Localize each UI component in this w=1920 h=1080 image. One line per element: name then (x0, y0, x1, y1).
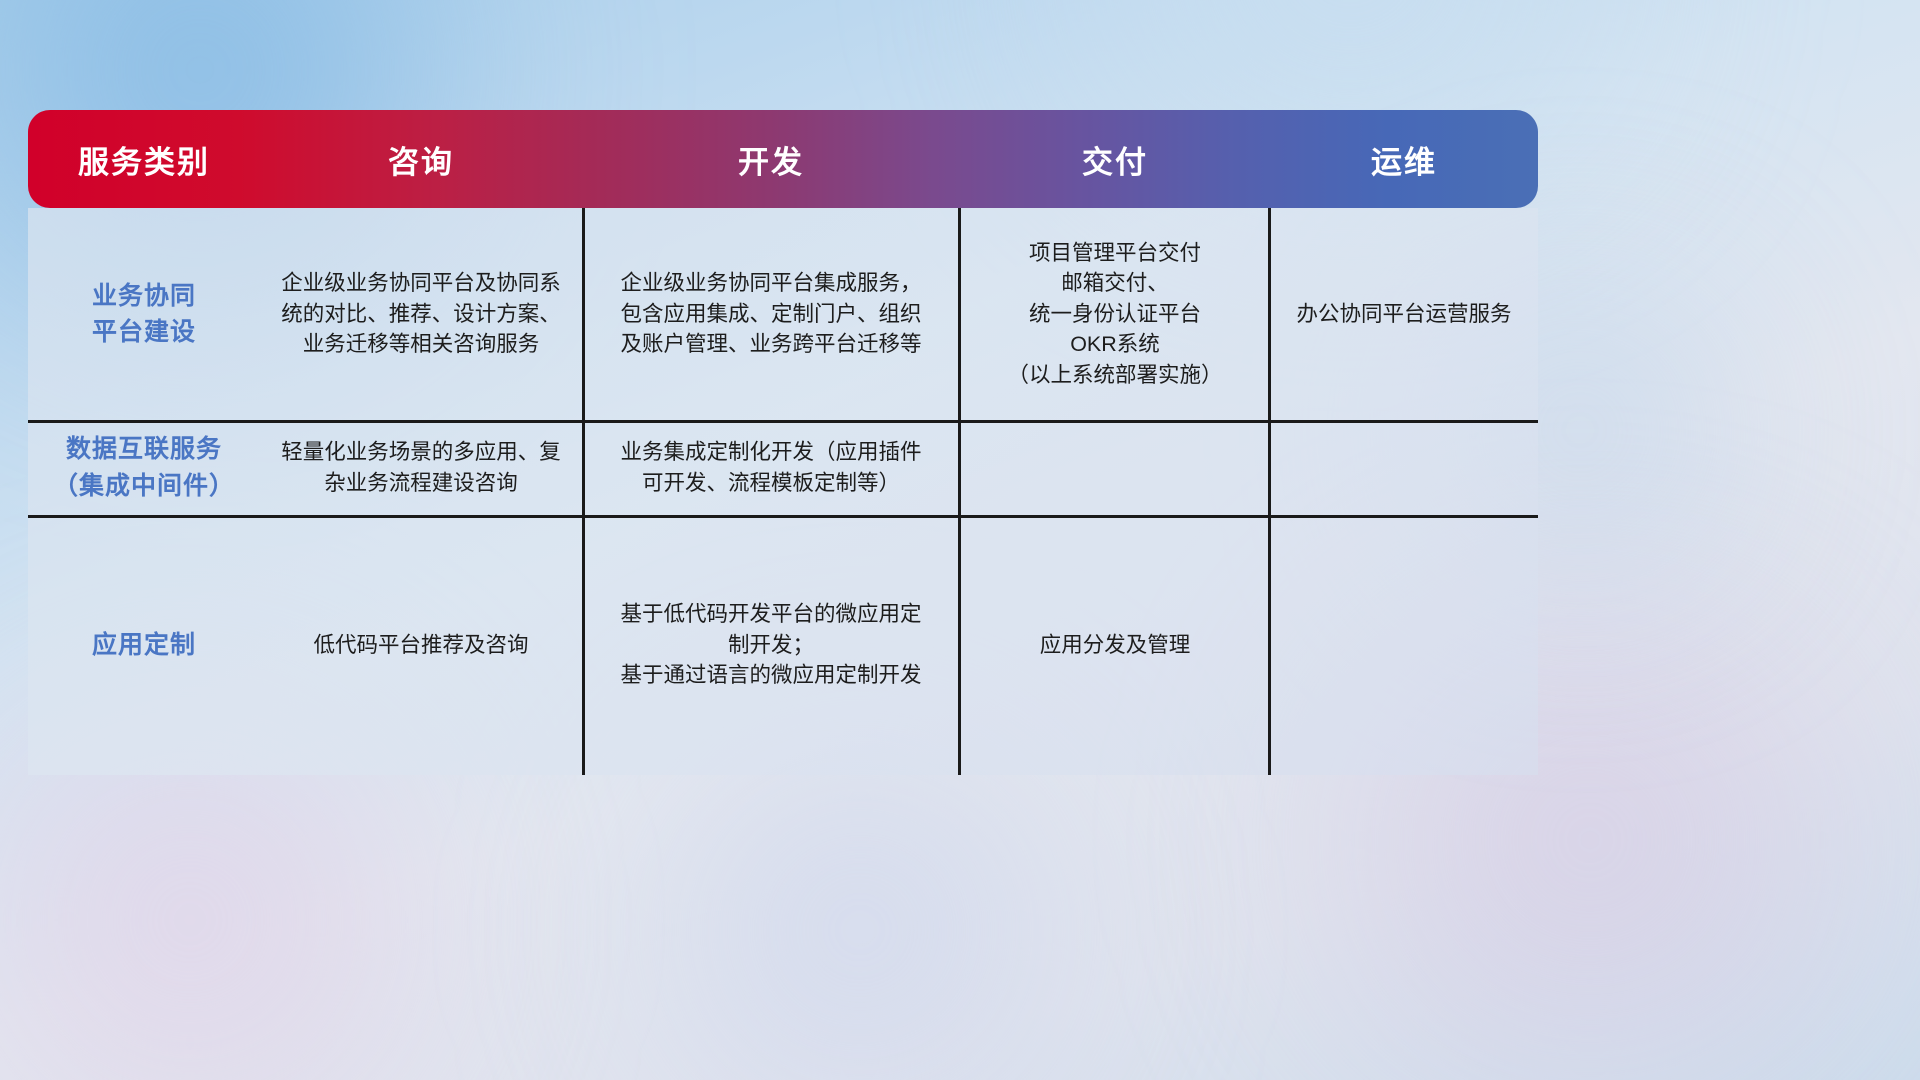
row-3-delivery: 应用分发及管理 (960, 515, 1270, 775)
row-3-operations (1270, 515, 1538, 775)
column-header-development: 开发 (582, 137, 960, 182)
table-body-grid: 业务协同 平台建设 企业级业务协同平台及协同系 统的对比、推荐、设计方案、 业务… (28, 208, 1538, 775)
row-1-category: 业务协同 平台建设 (28, 208, 260, 420)
row-1-consulting: 企业级业务协同平台及协同系 统的对比、推荐、设计方案、 业务迁移等相关咨询服务 (260, 208, 582, 420)
row-2-operations (1270, 420, 1538, 515)
row-3-development: 基于低代码开发平台的微应用定 制开发； 基于通过语言的微应用定制开发 (582, 515, 960, 775)
column-header-delivery: 交付 (960, 137, 1270, 182)
table-header-row: 服务类别 咨询 开发 交付 运维 (28, 110, 1538, 208)
row-2-delivery (960, 420, 1270, 515)
column-header-operations: 运维 (1270, 137, 1538, 182)
row-3-category: 应用定制 (28, 515, 260, 775)
column-divider-2 (958, 208, 961, 775)
row-1-development: 企业级业务协同平台集成服务， 包含应用集成、定制门户、组织 及账户管理、业务跨平… (582, 208, 960, 420)
row-2-consulting: 轻量化业务场景的多应用、复 杂业务流程建设咨询 (260, 420, 582, 515)
column-divider-3 (1268, 208, 1271, 775)
row-3-consulting: 低代码平台推荐及咨询 (260, 515, 582, 775)
row-1-delivery: 项目管理平台交付 邮箱交付、 统一身份认证平台 OKR系统 （以上系统部署实施） (960, 208, 1270, 420)
service-matrix-table: 服务类别 咨询 开发 交付 运维 业务协同 平台建设 企业级业务协同平台及协同系… (28, 110, 1538, 775)
column-divider-1 (582, 208, 585, 775)
row-divider-1 (28, 420, 1538, 423)
row-2-category: 数据互联服务 （集成中间件） (28, 420, 260, 515)
row-1-operations: 办公协同平台运营服务 (1270, 208, 1538, 420)
column-header-consulting: 咨询 (260, 137, 582, 182)
row-2-development: 业务集成定制化开发（应用插件 可开发、流程模板定制等） (582, 420, 960, 515)
row-divider-2 (28, 515, 1538, 518)
column-header-service-category: 服务类别 (28, 137, 260, 182)
